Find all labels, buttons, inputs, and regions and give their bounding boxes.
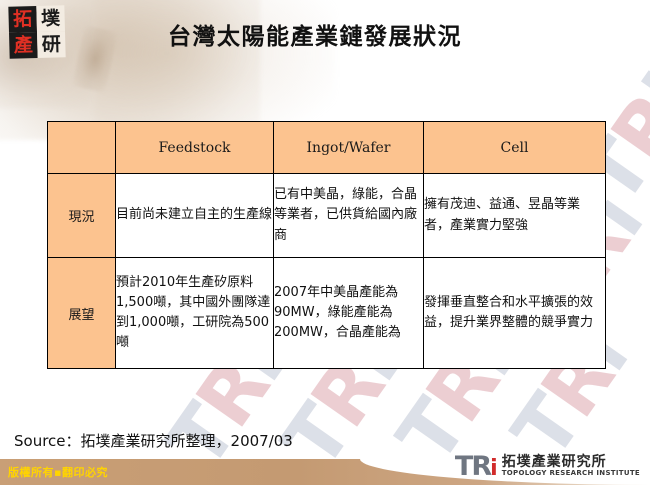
seal-char-tuo: 拓 — [8, 6, 37, 33]
column-header-cell: Cell — [424, 122, 606, 174]
copyright-notice: 版權所有▪翻印必究 — [8, 464, 108, 480]
slide-canvas: TRi TRi TRi TRi TRi TRi TRi TRi TRi TRi … — [0, 0, 650, 485]
comparison-table: Feedstock Ingot/Wafer Cell 現況 目前尚未建立自主的生… — [47, 121, 606, 369]
seal-char-chan: 產 — [9, 32, 38, 59]
row-label-current-status: 現況 — [48, 174, 116, 258]
tri-brand-logo: TRi 拓墣產業研究所 TOPOLOGY RESEARCH INSTITUTE — [455, 453, 640, 480]
seal-char-pu: 墣 — [36, 5, 65, 32]
tri-seal-logo: 拓 墣 產 研 — [8, 5, 65, 58]
cell-current-cell: 擁有茂迪、益通、昱晶等業者，產業實力堅強 — [424, 174, 606, 258]
tri-wordmark: 拓墣產業研究所 TOPOLOGY RESEARCH INSTITUTE — [502, 455, 640, 477]
column-header-ingot-wafer: Ingot/Wafer — [274, 122, 424, 174]
tri-name-english: TOPOLOGY RESEARCH INSTITUTE — [502, 470, 640, 477]
cell-current-ingot-wafer: 已有中美晶，綠能，合晶等業者，已供貨給國內廠商 — [274, 174, 424, 258]
cell-outlook-cell: 發揮垂直整合和水平擴張的效益，提升業界整體的競爭實力 — [424, 258, 606, 369]
table-header-row: Feedstock Ingot/Wafer Cell — [48, 122, 606, 174]
tri-monogram: TRi — [455, 453, 496, 480]
tri-letter-i: i — [490, 456, 496, 481]
source-note: Source：拓墣產業研究所整理，2007/03 — [14, 430, 293, 451]
page-title: 台灣太陽能產業鏈發展狀況 — [168, 17, 588, 51]
cell-outlook-feedstock: 預計2010年生產矽原料1,500噸，其中國外團隊達到1,000噸，工研院為50… — [116, 258, 274, 369]
table-row: 現況 目前尚未建立自主的生產線 已有中美晶，綠能，合晶等業者，已供貨給國內廠商 … — [48, 174, 606, 258]
background-wash-streak — [72, 25, 118, 93]
tri-letter-r: R — [471, 451, 490, 482]
tri-name-chinese: 拓墣產業研究所 — [502, 455, 640, 470]
row-label-outlook: 展望 — [48, 258, 116, 369]
cell-current-feedstock: 目前尚未建立自主的生產線 — [116, 174, 274, 258]
column-header-feedstock: Feedstock — [116, 122, 274, 174]
table-corner-cell — [48, 122, 116, 174]
table-row: 展望 預計2010年生產矽原料1,500噸，其中國外團隊達到1,000噸，工研院… — [48, 258, 606, 369]
cell-outlook-ingot-wafer: 2007年中美晶產能為90MW，綠能產能為200MW，合晶產能為 — [274, 258, 424, 369]
tri-letter-t: T — [455, 451, 471, 482]
seal-char-yan: 研 — [37, 31, 66, 58]
